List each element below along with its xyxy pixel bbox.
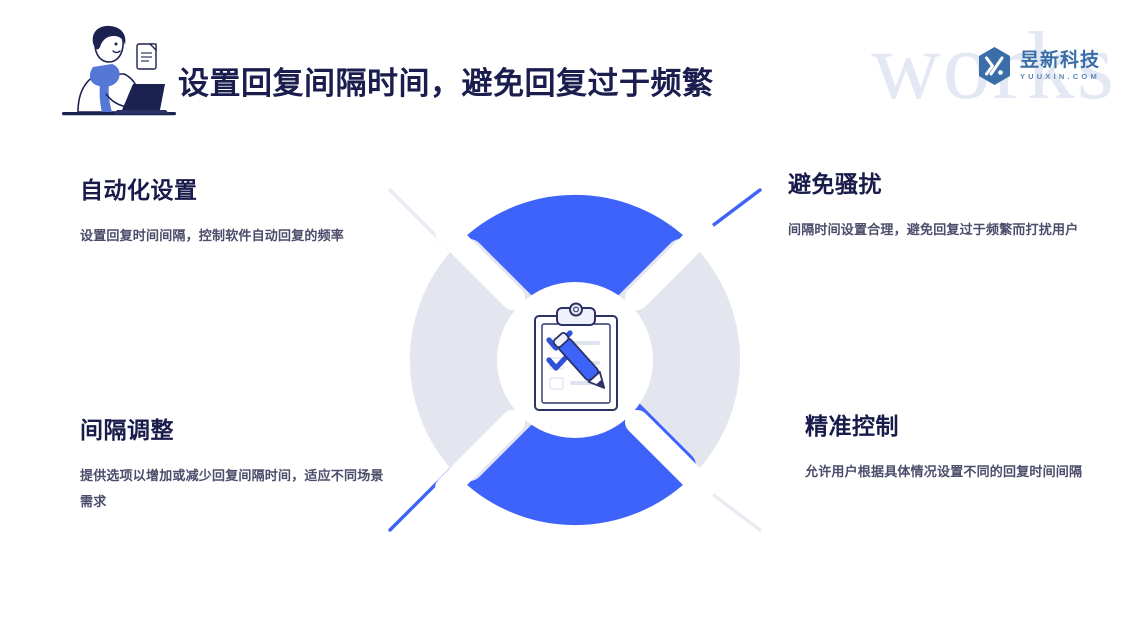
yuuxin-hexagon-logo-icon — [976, 46, 1013, 86]
brand-name: 昱新科技 — [1020, 51, 1100, 70]
four-segment-donut-diagram — [378, 178, 772, 542]
feature-body: 提供选项以增加或减少回复间隔时间，适应不同场景需求 — [80, 463, 385, 515]
feature-precise-control: 精准控制 允许用户根据具体情况设置不同的回复时间间隔 — [805, 414, 1110, 485]
feature-body: 间隔时间设置合理，避免回复过于频繁而打扰用户 — [788, 217, 1093, 243]
feature-title: 精准控制 — [805, 414, 1110, 439]
brand-domain: YUUXIN.COM — [1020, 73, 1100, 81]
feature-title: 间隔调整 — [80, 418, 385, 443]
clipboard-checklist-with-pen-icon — [524, 302, 628, 414]
feature-avoid-harassment: 避免骚扰 间隔时间设置合理，避免回复过于频繁而打扰用户 — [788, 172, 1093, 243]
feature-automation-settings: 自动化设置 设置回复时间间隔，控制软件自动回复的频率 — [80, 178, 385, 249]
person-working-at-laptop-icon — [62, 22, 182, 122]
feature-title: 避免骚扰 — [788, 172, 1093, 197]
feature-body: 允许用户根据具体情况设置不同的回复时间间隔 — [805, 459, 1110, 485]
slide-canvas: works — [0, 0, 1146, 630]
feature-title: 自动化设置 — [80, 178, 385, 203]
page-title: 设置回复间隔时间，避免回复过于频繁 — [178, 68, 714, 99]
header: works — [0, 0, 1146, 150]
feature-body: 设置回复时间间隔，控制软件自动回复的频率 — [80, 223, 385, 249]
feature-interval-adjustment: 间隔调整 提供选项以增加或减少回复间隔时间，适应不同场景需求 — [80, 418, 385, 515]
brand-logo: 昱新科技 YUUXIN.COM — [976, 46, 1100, 86]
